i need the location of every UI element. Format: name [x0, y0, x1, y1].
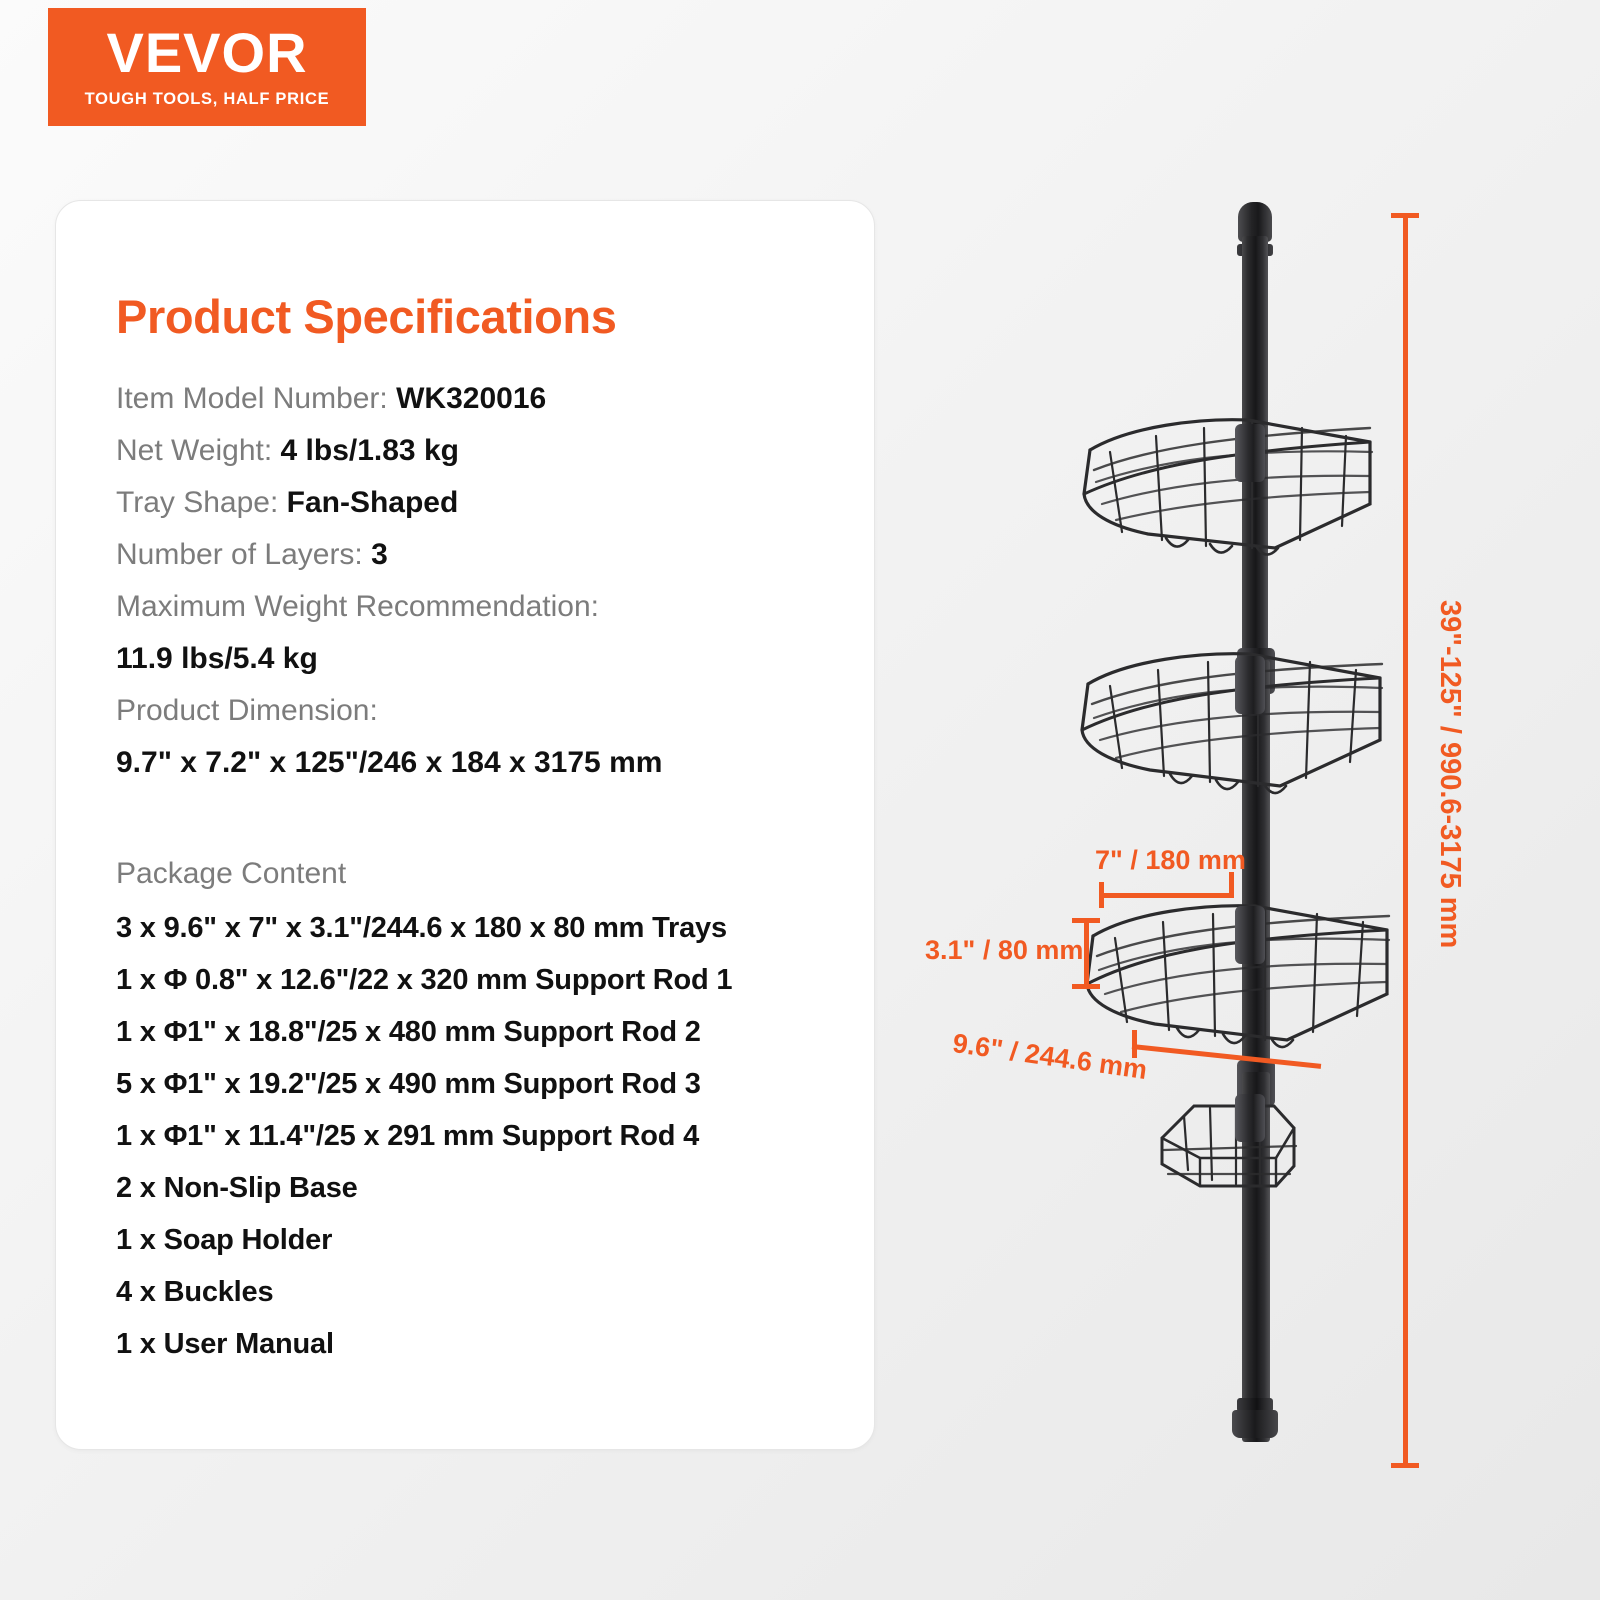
width-dimension-label: 7" / 180 mm — [1095, 845, 1246, 876]
product-illustration — [880, 0, 1600, 1600]
height-dimension-label: 39"-125" / 990.6-3175 mm — [1433, 600, 1466, 948]
spec-value: 9.7" x 7.2" x 125"/246 x 184 x 3175 mm — [116, 737, 826, 789]
package-item: 4 x Buckles — [116, 1266, 856, 1318]
package-item: 1 x Φ1" x 11.4"/25 x 291 mm Support Rod … — [116, 1110, 856, 1162]
soap-holder-basket — [1148, 1082, 1308, 1202]
depth-dim-line — [1084, 920, 1089, 988]
width-dim-line — [1099, 893, 1233, 898]
basket-clamp-lower — [1235, 906, 1265, 964]
basket-clamp-top — [1235, 424, 1265, 482]
depth-dimension-label: 3.1" / 80 mm — [925, 935, 1083, 966]
brand-tagline: TOUGH TOOLS, HALF PRICE — [85, 90, 330, 109]
package-item: 1 x Φ1" x 18.8"/25 x 480 mm Support Rod … — [116, 1006, 856, 1058]
spec-value: 11.9 lbs/5.4 kg — [116, 633, 826, 685]
package-item: 5 x Φ1" x 19.2"/25 x 490 mm Support Rod … — [116, 1058, 856, 1110]
pole-base-foot — [1232, 1410, 1278, 1438]
spec-label: Maximum Weight Recommendation: — [116, 590, 599, 623]
spec-label: Net Weight: — [116, 434, 281, 467]
brand-wordmark: VEVOR — [106, 25, 307, 81]
depth-dim-cap-bottom — [1072, 984, 1100, 989]
soap-holder-clamp — [1235, 1094, 1265, 1142]
page-title: Product Specifications — [116, 289, 616, 344]
spec-row: Tray Shape: Fan-Shaped — [116, 477, 826, 529]
spec-value: Fan-Shaped — [287, 486, 459, 519]
package-content-section: Package Content 3 x 9.6" x 7" x 3.1"/244… — [116, 846, 856, 1370]
spec-label: Product Dimension: — [116, 694, 378, 727]
product-specifications-card: Product Specifications Item Model Number… — [55, 200, 875, 1450]
spec-label: Item Model Number: — [116, 382, 396, 415]
package-content-list: 3 x 9.6" x 7" x 3.1"/244.6 x 180 x 80 mm… — [116, 902, 856, 1370]
package-item: 3 x 9.6" x 7" x 3.1"/244.6 x 180 x 80 mm… — [116, 902, 856, 954]
spec-label: Number of Layers: — [116, 538, 371, 571]
spec-value: 3 — [371, 538, 388, 571]
spec-row: Item Model Number: WK320016 — [116, 373, 826, 425]
brand-logo: VEVOR TOUGH TOOLS, HALF PRICE — [48, 8, 366, 126]
spec-row: Number of Layers: 3 — [116, 529, 826, 581]
package-item: 2 x Non-Slip Base — [116, 1162, 856, 1214]
package-content-heading: Package Content — [116, 846, 856, 902]
height-dim-cap-bottom — [1391, 1463, 1419, 1468]
spec-row: Net Weight: 4 lbs/1.83 kg — [116, 425, 826, 477]
package-item: 1 x User Manual — [116, 1318, 856, 1370]
basket-clamp-middle — [1235, 656, 1265, 714]
spec-label: Tray Shape: — [116, 486, 287, 519]
spec-row: Product Dimension:9.7" x 7.2" x 125"/246… — [116, 685, 826, 789]
specification-list: Item Model Number: WK320016Net Weight: 4… — [116, 373, 826, 789]
spec-value: WK320016 — [396, 382, 546, 415]
height-dim-line — [1403, 215, 1408, 1468]
spec-value: 4 lbs/1.83 kg — [281, 434, 459, 467]
package-item: 1 x Soap Holder — [116, 1214, 856, 1266]
package-item: 1 x Φ 0.8" x 12.6"/22 x 320 mm Support R… — [116, 954, 856, 1006]
spec-row: Maximum Weight Recommendation:11.9 lbs/5… — [116, 581, 826, 685]
